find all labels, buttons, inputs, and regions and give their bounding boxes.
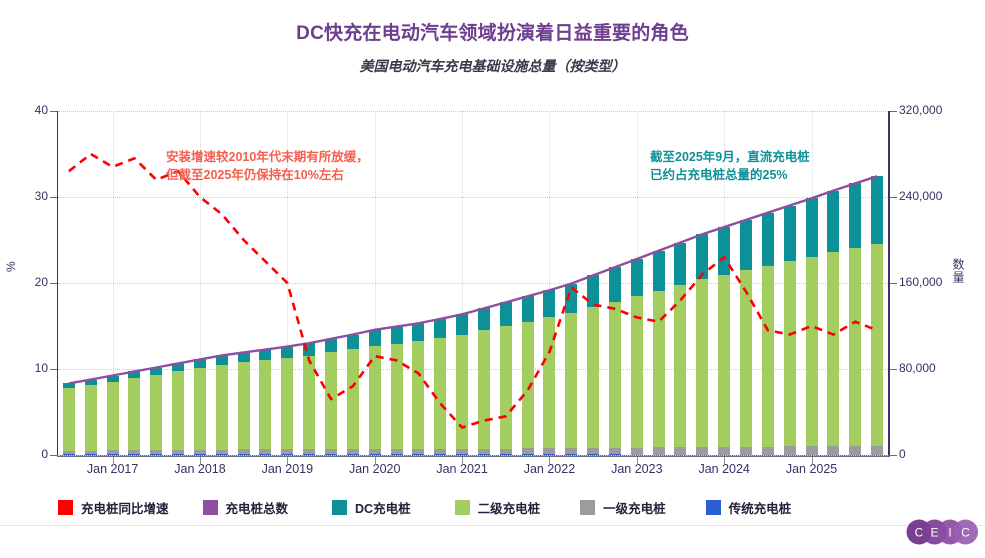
y-axis-left-tick-label: 30 [0, 189, 48, 203]
y-axis-right-tick-mark [890, 111, 897, 112]
legend-item[interactable]: 充电桩同比增速 [58, 498, 169, 517]
y-axis-right-tick-mark [890, 283, 897, 284]
chart-legend: 充电桩同比增速充电桩总数DC充电桩二级充电桩一级充电桩传统充电桩 [58, 496, 938, 518]
y-axis-left-tick-mark [50, 197, 57, 198]
y-axis-right-tick-label: 240,000 [899, 189, 969, 203]
legend-item-label: DC充电桩 [355, 498, 411, 517]
legend-item[interactable]: DC充电桩 [332, 498, 411, 517]
legend-item[interactable]: 传统充电桩 [706, 498, 792, 517]
y-axis-left-tick-label: 20 [0, 275, 48, 289]
ceic-logo-letter: E [930, 526, 938, 540]
chart-title: DC快充在电动汽车领域扮演着日益重要的角色 [0, 18, 985, 45]
line-total-chargers [69, 176, 877, 383]
x-axis-tick-mark [724, 457, 725, 465]
y-axis-right-tick-mark [890, 197, 897, 198]
y-axis-left-tick-mark [50, 283, 57, 284]
annotation-dc-share: 截至2025年9月，直流充电桩 已约占充电桩总量的25% [650, 148, 810, 184]
legend-swatch-dc [332, 500, 347, 515]
legend-item[interactable]: 充电桩总数 [203, 498, 289, 517]
x-axis-tick-mark [812, 457, 813, 465]
legend-swatch-level1 [580, 500, 595, 515]
legend-swatch-legacy [706, 500, 721, 515]
x-axis-tick-mark [637, 457, 638, 465]
legend-swatch-total [203, 500, 218, 515]
y-axis-left-label: % [4, 261, 18, 272]
y-axis-right-label: 数量 [950, 258, 967, 284]
x-axis-tick-mark [113, 457, 114, 465]
y-axis-left-tick-mark [50, 369, 57, 370]
y-axis-right-tick-mark [890, 455, 897, 456]
line-growth-rate [69, 154, 877, 427]
legend-item-label: 二级充电桩 [478, 498, 541, 517]
y-axis-left-tick-label: 0 [0, 447, 48, 461]
legend-swatch-level2 [455, 500, 470, 515]
legend-item-label: 传统充电桩 [729, 498, 792, 517]
y-axis-right-tick-mark [890, 369, 897, 370]
y-axis-right-tick-label: 80,000 [899, 361, 969, 375]
y-axis-left-tick-mark [50, 455, 57, 456]
chart-subtitle: 美国电动汽车充电基础设施总量（按类型） [0, 56, 985, 76]
y-axis-left-tick-label: 40 [0, 103, 48, 117]
ceic-logo-letter: I [948, 526, 951, 540]
x-axis-tick-mark [462, 457, 463, 465]
x-axis-tick-mark [549, 457, 550, 465]
legend-item[interactable]: 二级充电桩 [455, 498, 541, 517]
legend-swatch-growth [58, 500, 73, 515]
y-axis-left-tick-label: 10 [0, 361, 48, 375]
footer-divider [0, 525, 985, 526]
x-axis-tick-mark [287, 457, 288, 465]
y-axis-right-tick-label: 0 [899, 447, 969, 461]
legend-item-label: 一级充电桩 [603, 498, 666, 517]
gridline-horizontal [58, 455, 888, 456]
ceic-logo-letter: C [961, 526, 970, 540]
ceic-logo-icon: CEIC [906, 519, 978, 545]
y-axis-right-tick-label: 320,000 [899, 103, 969, 117]
annotation-growth-slowdown: 安装增速较2010年代末期有所放缓， 但截至2025年仍保持在10%左右 [166, 148, 369, 184]
legend-item-label: 充电桩同比增速 [81, 498, 169, 517]
legend-item-label: 充电桩总数 [226, 498, 289, 517]
x-axis-tick-mark [200, 457, 201, 465]
chart-container: DC快充在电动汽车领域扮演着日益重要的角色 美国电动汽车充电基础设施总量（按类型… [0, 0, 985, 558]
x-axis-tick-mark [375, 457, 376, 465]
y-axis-left-tick-mark [50, 111, 57, 112]
legend-item[interactable]: 一级充电桩 [580, 498, 666, 517]
